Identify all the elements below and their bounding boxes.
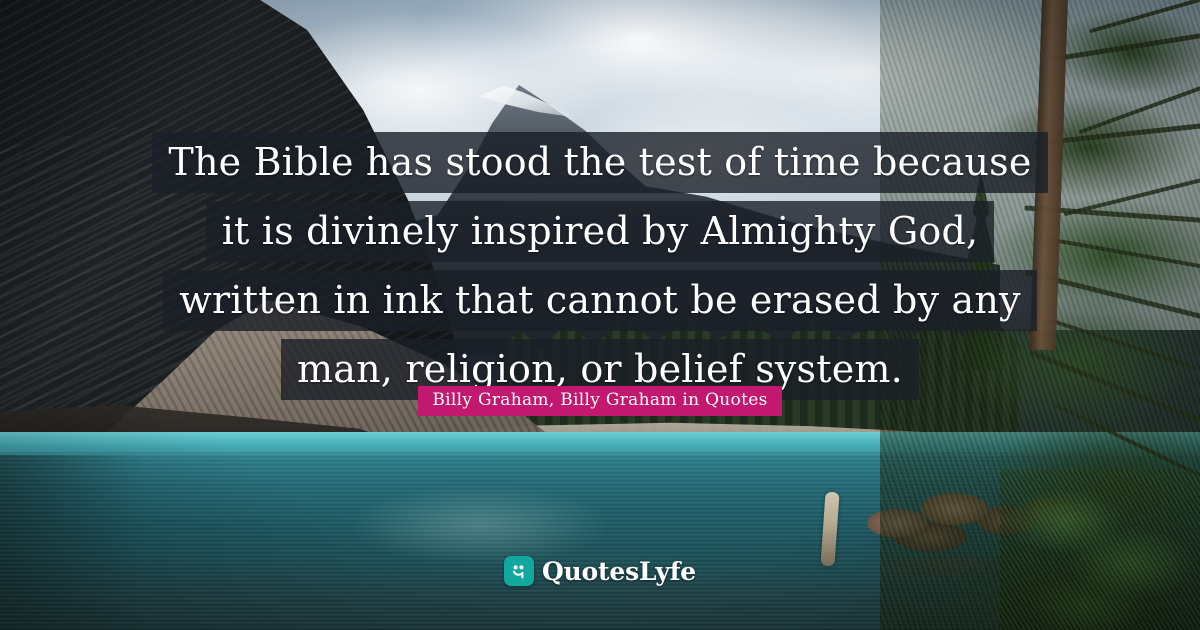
quote-line-3: written in ink that cannot be erased by …: [163, 270, 1036, 331]
quote-line-1: The Bible has stood the test of time bec…: [152, 132, 1047, 193]
brand-name: QuotesLyfe: [542, 557, 696, 586]
quote-line-2: it is divinely inspired by Almighty God,: [206, 201, 995, 262]
attribution-area: Billy Graham, Billy Graham in Quotes: [0, 386, 1200, 416]
quote-smiley-icon: [504, 556, 534, 586]
attribution-badge: Billy Graham, Billy Graham in Quotes: [418, 386, 781, 416]
quote-text-block: The Bible has stood the test of time bec…: [0, 128, 1200, 404]
right-bush-texture: [1000, 470, 1200, 630]
quote-image-canvas: The Bible has stood the test of time bec…: [0, 0, 1200, 630]
brand-logo[interactable]: QuotesLyfe: [0, 556, 1200, 586]
